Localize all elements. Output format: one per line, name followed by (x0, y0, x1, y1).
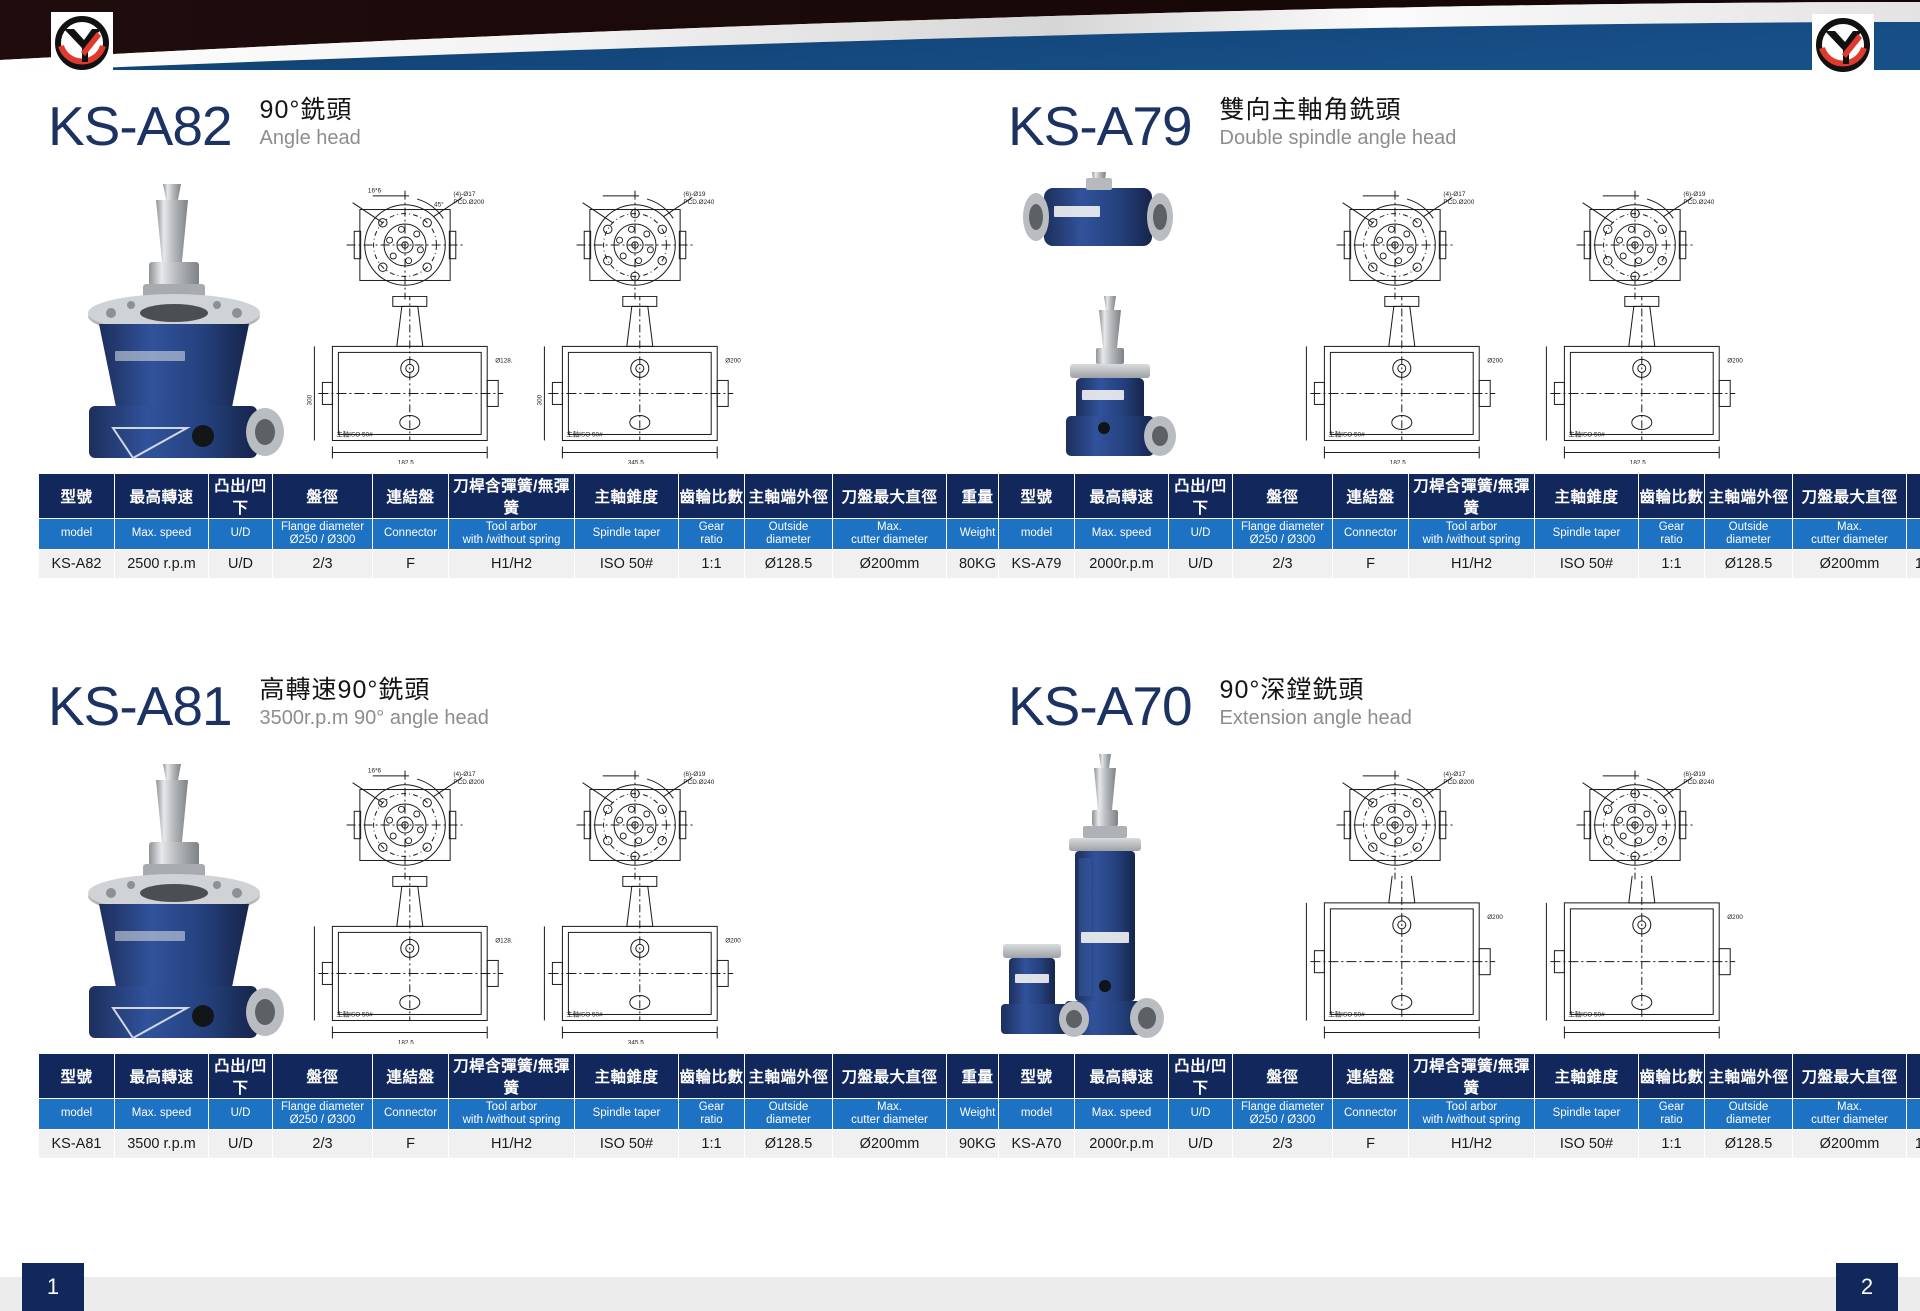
spec-cell-7: 1:1 (1639, 550, 1705, 579)
th-cn-1: 最高轉速 (1075, 1054, 1169, 1099)
th-cn-7: 齒輪比數 (679, 1054, 745, 1099)
spec-cell-1: 2000r.p.m (1075, 1130, 1169, 1159)
spec-cell-2: U/D (209, 550, 273, 579)
svg-text:PCD.Ø200: PCD.Ø200 (453, 779, 484, 786)
th-en-9-line-0: Max. (833, 521, 946, 534)
front-view-left-ks-a70: (4)-Ø17 PCD.Ø200 (1290, 754, 1500, 884)
th-en-1: Max. speed (115, 519, 209, 550)
table-row: KS-A702000r.p.mU/D2/3FH1/H2ISO 50#1:1Ø12… (999, 1130, 1920, 1159)
section-view-left-ks-a70: Ø2000~360°主軸ISO 50# (1290, 876, 1505, 1044)
svg-text:(6)-Ø19: (6)-Ø19 (683, 191, 705, 198)
th-en-7-line-1: ratio (1639, 534, 1704, 547)
th-en-3-line-0: Flange diameter (273, 521, 372, 534)
spec-cell-7: 1:1 (679, 1130, 745, 1159)
th-en-3-line-0: Flange diameter (1233, 1101, 1332, 1114)
page-number-right: 2 (1836, 1263, 1898, 1311)
th-en-8: Outsidediameter (745, 1099, 833, 1130)
product-title-chinese: 雙向主軸角銑頭 (1220, 96, 1457, 125)
spec-cell-3: 2/3 (273, 1130, 373, 1159)
front-view-right-ks-a82: (6)-Ø19 PCD.Ø240 (530, 174, 740, 304)
th-en-6: Spindle taper (1535, 1099, 1639, 1130)
th-en-0-line-0: model (999, 1107, 1074, 1120)
svg-text:182.5: 182.5 (398, 1039, 414, 1044)
th-en-2: U/D (209, 519, 273, 550)
svg-text:182.5: 182.5 (398, 459, 414, 464)
spec-table-ks-a70: 型號最高轉速凸出/凹下盤徑連結盤刀桿含彈簧/無彈簧主軸錐度齒輪比數主軸端外徑刀盤… (998, 1053, 1920, 1159)
th-en-7: Gearratio (679, 519, 745, 550)
svg-text:Ø128.5: Ø128.5 (495, 357, 513, 364)
table-header-row-en: modelMax. speedU/DFlange diameterØ250 / … (39, 519, 1009, 550)
spec-cell-4: F (1333, 550, 1409, 579)
svg-text:182.5: 182.5 (1390, 459, 1406, 464)
th-en-7: Gearratio (1639, 519, 1705, 550)
product-title-english: Double spindle angle head (1220, 126, 1457, 150)
th-en-9-line-1: cutter diameter (833, 534, 946, 547)
th-cn-2: 凸出/凹下 (209, 1054, 273, 1099)
th-en-1: Max. speed (115, 1099, 209, 1130)
page-footer (0, 1233, 1920, 1311)
svg-text:PCD.Ø240: PCD.Ø240 (1683, 199, 1714, 206)
th-en-4: Connector (373, 1099, 449, 1130)
svg-text:PCD.Ø240: PCD.Ø240 (1683, 779, 1714, 786)
section-view-left-ks-a79: 182.5Ø2000~360°主軸ISO 50# (1290, 296, 1505, 464)
spec-cell-6: ISO 50# (1535, 550, 1639, 579)
svg-text:主軸ISO 50#: 主軸ISO 50# (1328, 429, 1365, 438)
svg-text:主軸ISO 50#: 主軸ISO 50# (336, 429, 373, 438)
svg-text:(6)-Ø19: (6)-Ø19 (1683, 191, 1705, 198)
product-media-ks-a79: (4)-Ø17 PCD.Ø200 (6)-Ø19 PCD.Ø240 (990, 166, 1890, 471)
th-en-9: Max.cutter diameter (1793, 519, 1907, 550)
th-cn-0: 型號 (999, 1054, 1075, 1099)
th-cn-4: 連結盤 (1333, 474, 1409, 519)
th-en-3-line-1: Ø250 / Ø300 (1233, 534, 1332, 547)
product-media-ks-a82: 16*6 (4)-Ø17 PCD.Ø200 45° (6)-Ø19 P (30, 166, 930, 471)
th-en-5-line-0: Tool arbor (449, 1101, 574, 1114)
th-cn-0: 型號 (999, 474, 1075, 519)
svg-text:主軸ISO 50#: 主軸ISO 50# (566, 1009, 603, 1018)
th-en-8-line-1: diameter (1705, 534, 1792, 547)
th-en-8-line-0: Outside (745, 1101, 832, 1114)
section-view-right-ks-a79: 182.5Ø2000~360°主軸ISO 50# (1530, 296, 1745, 464)
th-cn-2: 凸出/凹下 (1169, 474, 1233, 519)
svg-text:PCD.Ø200: PCD.Ø200 (453, 199, 484, 206)
th-cn-3: 盤徑 (1233, 1054, 1333, 1099)
svg-text:Ø200: Ø200 (1487, 914, 1503, 921)
spec-cell-3: 2/3 (1233, 1130, 1333, 1159)
svg-text:PCD.Ø240: PCD.Ø240 (683, 199, 714, 206)
th-en-4: Connector (1333, 519, 1409, 550)
th-en-6: Spindle taper (1535, 519, 1639, 550)
product-photo-ks-a70 (995, 746, 1205, 1046)
svg-text:345.5: 345.5 (628, 459, 644, 464)
svg-text:16*6: 16*6 (368, 768, 382, 775)
product-photo-ks-a82 (55, 166, 285, 466)
svg-text:(4)-Ø17: (4)-Ø17 (1443, 191, 1465, 198)
product-model-name: KS-A79 (1008, 99, 1192, 154)
th-cn-2: 凸出/凹下 (209, 474, 273, 519)
spec-cell-9: Ø200mm (833, 550, 947, 579)
spec-cell-8: Ø128.5 (745, 550, 833, 579)
svg-text:Ø128.5: Ø128.5 (495, 937, 513, 944)
th-cn-0: 型號 (39, 474, 115, 519)
page-header-banner (0, 0, 1920, 78)
table-row: KS-A813500 r.p.mU/D2/3FH1/H2ISO 50#1:1Ø1… (39, 1130, 1009, 1159)
th-en-2-line-0: U/D (1169, 527, 1232, 540)
th-en-8: Outsidediameter (1705, 519, 1793, 550)
th-en-4-line-0: Connector (373, 1107, 448, 1120)
th-en-9-line-0: Max. (833, 1101, 946, 1114)
spec-cell-0: KS-A79 (999, 550, 1075, 579)
th-en-5: Tool arborwith /without spring (1409, 1099, 1535, 1130)
company-logo-left (51, 12, 113, 74)
th-en-6: Spindle taper (575, 1099, 679, 1130)
product-title-ks-a70: KS-A70 90°深鏜銑頭 Extension angle head (1008, 676, 1412, 734)
th-en-9: Max.cutter diameter (833, 1099, 947, 1130)
spec-cell-0: KS-A82 (39, 550, 115, 579)
product-model-name: KS-A81 (48, 679, 232, 734)
th-en-4-line-0: Connector (1333, 1107, 1408, 1120)
th-en-9: Max.cutter diameter (1793, 1099, 1907, 1130)
th-en-3-line-0: Flange diameter (1233, 521, 1332, 534)
section-view-left-ks-a82: 182.5300Ø128.50~360°主軸ISO 50# (298, 296, 513, 464)
svg-text:45°: 45° (434, 200, 444, 208)
front-view-right-ks-a79: (6)-Ø19 PCD.Ø240 (1530, 174, 1740, 304)
spec-cell-7: 1:1 (1639, 1130, 1705, 1159)
th-en-6-line-0: Spindle taper (1535, 1107, 1638, 1120)
th-en-7: Gearratio (679, 1099, 745, 1130)
th-cn-6: 主軸錐度 (1535, 1054, 1639, 1099)
th-cn-8: 主軸端外徑 (1705, 1054, 1793, 1099)
table-header-row-en: modelMax. speedU/DFlange diameterØ250 / … (999, 1099, 1920, 1130)
spec-cell-8: Ø128.5 (745, 1130, 833, 1159)
th-en-8: Outsidediameter (745, 519, 833, 550)
th-cn-9: 刀盤最大直徑 (1793, 1054, 1907, 1099)
th-en-3: Flange diameterØ250 / Ø300 (1233, 1099, 1333, 1130)
th-en-6-line-0: Spindle taper (575, 1107, 678, 1120)
th-cn-9: 刀盤最大直徑 (833, 474, 947, 519)
section-view-left-ks-a81: 182.5Ø128.50~360°主軸ISO 50# (298, 876, 513, 1044)
spec-cell-7: 1:1 (679, 550, 745, 579)
th-en-9-line-1: cutter diameter (1793, 1114, 1906, 1127)
th-cn-3: 盤徑 (273, 1054, 373, 1099)
page-number-left: 1 (22, 1263, 84, 1311)
th-en-5-line-0: Tool arbor (1409, 521, 1534, 534)
spec-cell-9: Ø200mm (1793, 550, 1907, 579)
th-en-5: Tool arborwith /without spring (449, 519, 575, 550)
th-cn-7: 齒輪比數 (1639, 1054, 1705, 1099)
th-cn-1: 最高轉速 (115, 1054, 209, 1099)
table-header-row-cn: 型號最高轉速凸出/凹下盤徑連結盤刀桿含彈簧/無彈簧主軸錐度齒輪比數主軸端外徑刀盤… (999, 474, 1920, 519)
spec-table-ks-a79: 型號最高轉速凸出/凹下盤徑連結盤刀桿含彈簧/無彈簧主軸錐度齒輪比數主軸端外徑刀盤… (998, 473, 1920, 579)
svg-text:(4)-Ø17: (4)-Ø17 (453, 191, 475, 198)
svg-text:PCD.Ø240: PCD.Ø240 (683, 779, 714, 786)
th-cn-8: 主軸端外徑 (1705, 474, 1793, 519)
th-en-3: Flange diameterØ250 / Ø300 (273, 1099, 373, 1130)
product-model-name: KS-A70 (1008, 679, 1192, 734)
th-cn-4: 連結盤 (1333, 1054, 1409, 1099)
section-view-right-ks-a70: Ø2000~360°主軸ISO 50# (1530, 876, 1745, 1044)
table-header-row-en: modelMax. speedU/DFlange diameterØ250 / … (39, 1099, 1009, 1130)
th-en-2-line-0: U/D (209, 527, 272, 540)
th-en-7: Gearratio (1639, 1099, 1705, 1130)
th-en-5-line-1: with /without spring (1409, 1114, 1534, 1127)
th-en-3-line-1: Ø250 / Ø300 (273, 534, 372, 547)
product-title-chinese: 90°銑頭 (260, 96, 361, 125)
th-cn-5: 刀桿含彈簧/無彈簧 (449, 1054, 575, 1099)
footer-gray-bar (0, 1277, 1920, 1311)
spec-cell-8: Ø128.5 (1705, 550, 1793, 579)
svg-text:Ø200: Ø200 (1727, 357, 1743, 364)
th-en-3-line-1: Ø250 / Ø300 (1233, 1114, 1332, 1127)
th-en-7-line-0: Gear (679, 521, 744, 534)
product-title-english: Extension angle head (1220, 706, 1412, 730)
front-view-left-ks-a81: 16*6 (4)-Ø17 PCD.Ø200 (300, 754, 510, 884)
th-en-9-line-1: cutter diameter (1793, 534, 1906, 547)
table-header-row-cn: 型號最高轉速凸出/凹下盤徑連結盤刀桿含彈簧/無彈簧主軸錐度齒輪比數主軸端外徑刀盤… (39, 1054, 1009, 1099)
th-en-2: U/D (1169, 1099, 1233, 1130)
th-en-6: Spindle taper (575, 519, 679, 550)
spec-cell-5: H1/H2 (1409, 550, 1535, 579)
svg-text:Ø200: Ø200 (725, 357, 741, 364)
th-en-2-line-0: U/D (209, 1107, 272, 1120)
spec-cell-8: Ø128.5 (1705, 1130, 1793, 1159)
spec-cell-6: ISO 50# (575, 1130, 679, 1159)
spec-cell-4: F (1333, 1130, 1409, 1159)
th-en-10: Weight (1907, 1099, 1920, 1130)
th-en-8-line-1: diameter (745, 534, 832, 547)
spec-cell-5: H1/H2 (449, 550, 575, 579)
spec-cell-0: KS-A70 (999, 1130, 1075, 1159)
th-cn-6: 主軸錐度 (575, 1054, 679, 1099)
svg-text:主軸ISO 50#: 主軸ISO 50# (566, 429, 603, 438)
th-cn-10: 重量 (1907, 1054, 1920, 1099)
th-en-7-line-1: ratio (679, 534, 744, 547)
th-en-3-line-0: Flange diameter (273, 1101, 372, 1114)
front-view-right-ks-a81: (6)-Ø19 PCD.Ø240 (530, 754, 740, 884)
company-y-logo-icon (1812, 14, 1874, 76)
th-cn-5: 刀桿含彈簧/無彈簧 (1409, 1054, 1535, 1099)
product-title-chinese: 90°深鏜銑頭 (1220, 676, 1412, 705)
spec-cell-1: 2500 r.p.m (115, 550, 209, 579)
th-cn-4: 連結盤 (373, 474, 449, 519)
th-en-7-line-0: Gear (1639, 1101, 1704, 1114)
product-block-ks-a79: KS-A79 雙向主軸角銑頭 Double spindle angle head (960, 78, 1920, 658)
product-title-english: Angle head (260, 126, 361, 150)
th-en-9: Max.cutter diameter (833, 519, 947, 550)
th-en-0: model (39, 1099, 115, 1130)
svg-text:(6)-Ø19: (6)-Ø19 (1683, 771, 1705, 778)
svg-text:300: 300 (306, 394, 313, 405)
spec-cell-10: 105KG (1907, 1130, 1920, 1159)
th-cn-8: 主軸端外徑 (745, 474, 833, 519)
th-en-8: Outsidediameter (1705, 1099, 1793, 1130)
th-cn-8: 主軸端外徑 (745, 1054, 833, 1099)
th-en-5-line-1: with /without spring (449, 534, 574, 547)
spec-cell-1: 3500 r.p.m (115, 1130, 209, 1159)
th-en-8-line-0: Outside (1705, 1101, 1792, 1114)
front-view-left-ks-a79: (4)-Ø17 PCD.Ø200 (1290, 174, 1500, 304)
spec-cell-6: ISO 50# (1535, 1130, 1639, 1159)
th-en-2: U/D (209, 1099, 273, 1130)
th-en-7-line-1: ratio (679, 1114, 744, 1127)
th-en-4: Connector (373, 519, 449, 550)
th-en-4-line-0: Connector (373, 527, 448, 540)
product-title-english: 3500r.p.m 90° angle head (260, 706, 489, 730)
th-en-9-line-1: cutter diameter (833, 1114, 946, 1127)
spec-table-ks-a82: 型號最高轉速凸出/凹下盤徑連結盤刀桿含彈簧/無彈簧主軸錐度齒輪比數主軸端外徑刀盤… (38, 473, 1009, 579)
th-cn-2: 凸出/凹下 (1169, 1054, 1233, 1099)
spec-cell-3: 2/3 (273, 550, 373, 579)
product-block-ks-a81: KS-A81 高轉速90°銑頭 3500r.p.m 90° angle head (0, 658, 960, 1238)
th-cn-0: 型號 (39, 1054, 115, 1099)
th-en-4: Connector (1333, 1099, 1409, 1130)
spec-cell-9: Ø200mm (1793, 1130, 1907, 1159)
th-en-8-line-0: Outside (1705, 521, 1792, 534)
spec-cell-2: U/D (209, 1130, 273, 1159)
th-en-1-line-0: Max. speed (115, 527, 208, 540)
th-en-1: Max. speed (1075, 519, 1169, 550)
product-title-ks-a79: KS-A79 雙向主軸角銑頭 Double spindle angle head (1008, 96, 1456, 154)
th-en-5-line-1: with /without spring (449, 1114, 574, 1127)
svg-text:主軸ISO 50#: 主軸ISO 50# (1568, 1009, 1605, 1018)
front-view-left-ks-a82: 16*6 (4)-Ø17 PCD.Ø200 45° (300, 174, 510, 304)
company-y-logo-icon (51, 12, 113, 74)
spec-cell-5: H1/H2 (449, 1130, 575, 1159)
header-swoosh-icon (0, 0, 1920, 78)
spec-cell-4: F (373, 550, 449, 579)
svg-text:300: 300 (536, 394, 543, 405)
th-cn-5: 刀桿含彈簧/無彈簧 (1409, 474, 1535, 519)
svg-text:主軸ISO 50#: 主軸ISO 50# (336, 1009, 373, 1018)
th-en-1-line-0: Max. speed (1075, 527, 1168, 540)
th-cn-9: 刀盤最大直徑 (1793, 474, 1907, 519)
svg-text:16*6: 16*6 (368, 188, 382, 195)
th-cn-5: 刀桿含彈簧/無彈簧 (449, 474, 575, 519)
product-photo-ks-a79 (1000, 166, 1210, 466)
th-cn-6: 主軸錐度 (1535, 474, 1639, 519)
table-header-row-en: modelMax. speedU/DFlange diameterØ250 / … (999, 519, 1920, 550)
th-en-8-line-1: diameter (1705, 1114, 1792, 1127)
spec-cell-4: F (373, 1130, 449, 1159)
product-title-ks-a81: KS-A81 高轉速90°銑頭 3500r.p.m 90° angle head (48, 676, 489, 734)
svg-text:345.5: 345.5 (628, 1039, 644, 1044)
table-header-row-cn: 型號最高轉速凸出/凹下盤徑連結盤刀桿含彈簧/無彈簧主軸錐度齒輪比數主軸端外徑刀盤… (999, 1054, 1920, 1099)
spec-cell-2: U/D (1169, 550, 1233, 579)
spec-cell-5: H1/H2 (1409, 1130, 1535, 1159)
th-en-5-line-0: Tool arbor (449, 521, 574, 534)
th-en-7-line-0: Gear (679, 1101, 744, 1114)
th-cn-7: 齒輪比數 (1639, 474, 1705, 519)
spec-cell-9: Ø200mm (833, 1130, 947, 1159)
th-en-10-line-0: Weight (1907, 527, 1920, 540)
th-en-9-line-0: Max. (1793, 521, 1906, 534)
spec-cell-10: 100KG (1907, 550, 1920, 579)
th-cn-7: 齒輪比數 (679, 474, 745, 519)
svg-text:Ø200: Ø200 (1727, 914, 1743, 921)
catalog-page-body: KS-A82 90°銑頭 Angle head (0, 78, 1920, 1233)
table-row: KS-A792000r.p.mU/D2/3FH1/H2ISO 50#1:1Ø12… (999, 550, 1920, 579)
spec-cell-0: KS-A81 (39, 1130, 115, 1159)
th-en-7-line-0: Gear (1639, 521, 1704, 534)
spec-cell-2: U/D (1169, 1130, 1233, 1159)
svg-text:(6)-Ø19: (6)-Ø19 (683, 771, 705, 778)
product-model-name: KS-A82 (48, 99, 232, 154)
th-en-0: model (39, 519, 115, 550)
spec-cell-3: 2/3 (1233, 550, 1333, 579)
th-cn-1: 最高轉速 (1075, 474, 1169, 519)
th-en-2: U/D (1169, 519, 1233, 550)
spec-cell-6: ISO 50# (575, 550, 679, 579)
company-logo-right (1812, 14, 1874, 76)
th-en-1-line-0: Max. speed (1075, 1107, 1168, 1120)
th-cn-4: 連結盤 (373, 1054, 449, 1099)
product-block-ks-a70: KS-A70 90°深鏜銑頭 Extension angle head (960, 658, 1920, 1238)
product-title-chinese: 高轉速90°銑頭 (260, 676, 489, 705)
product-title-ks-a82: KS-A82 90°銑頭 Angle head (48, 96, 361, 154)
th-en-3: Flange diameterØ250 / Ø300 (273, 519, 373, 550)
th-en-5-line-1: with /without spring (1409, 534, 1534, 547)
th-en-3-line-1: Ø250 / Ø300 (273, 1114, 372, 1127)
th-en-0: model (999, 1099, 1075, 1130)
svg-text:Ø200: Ø200 (1487, 357, 1503, 364)
th-en-5-line-0: Tool arbor (1409, 1101, 1534, 1114)
th-cn-6: 主軸錐度 (575, 474, 679, 519)
svg-text:182.5: 182.5 (1630, 459, 1646, 464)
spec-cell-1: 2000r.p.m (1075, 550, 1169, 579)
product-photo-ks-a81 (55, 746, 285, 1046)
front-view-right-ks-a70: (6)-Ø19 PCD.Ø240 (1530, 754, 1740, 884)
svg-text:主軸ISO 50#: 主軸ISO 50# (1568, 429, 1605, 438)
th-en-0-line-0: model (999, 527, 1074, 540)
product-block-ks-a82: KS-A82 90°銑頭 Angle head (0, 78, 960, 658)
svg-text:(4)-Ø17: (4)-Ø17 (453, 771, 475, 778)
th-cn-9: 刀盤最大直徑 (833, 1054, 947, 1099)
th-en-8-line-1: diameter (745, 1114, 832, 1127)
th-en-10: Weight (1907, 519, 1920, 550)
th-en-0: model (999, 519, 1075, 550)
svg-text:PCD.Ø200: PCD.Ø200 (1443, 199, 1474, 206)
th-en-7-line-1: ratio (1639, 1114, 1704, 1127)
th-en-0-line-0: model (39, 1107, 114, 1120)
th-en-5: Tool arborwith /without spring (449, 1099, 575, 1130)
th-en-8-line-0: Outside (745, 521, 832, 534)
table-header-row-cn: 型號最高轉速凸出/凹下盤徑連結盤刀桿含彈簧/無彈簧主軸錐度齒輪比數主軸端外徑刀盤… (39, 474, 1009, 519)
th-en-0-line-0: model (39, 527, 114, 540)
th-en-10-line-0: Weight (1907, 1107, 1920, 1120)
spec-table-ks-a81: 型號最高轉速凸出/凹下盤徑連結盤刀桿含彈簧/無彈簧主軸錐度齒輪比數主軸端外徑刀盤… (38, 1053, 1009, 1159)
section-view-right-ks-a82: 345.5300Ø2000~360°主軸ISO 50# (528, 296, 743, 464)
th-en-9-line-0: Max. (1793, 1101, 1906, 1114)
th-cn-3: 盤徑 (1233, 474, 1333, 519)
section-view-right-ks-a81: 345.5Ø2000~360°主軸ISO 50# (528, 876, 743, 1044)
th-en-6-line-0: Spindle taper (575, 527, 678, 540)
th-cn-10: 重量 (1907, 474, 1920, 519)
th-en-5: Tool arborwith /without spring (1409, 519, 1535, 550)
svg-text:Ø200: Ø200 (725, 937, 741, 944)
table-row: KS-A822500 r.p.mU/D2/3FH1/H2ISO 50#1:1Ø1… (39, 550, 1009, 579)
th-en-1-line-0: Max. speed (115, 1107, 208, 1120)
th-en-3: Flange diameterØ250 / Ø300 (1233, 519, 1333, 550)
svg-text:(4)-Ø17: (4)-Ø17 (1443, 771, 1465, 778)
svg-text:PCD.Ø200: PCD.Ø200 (1443, 779, 1474, 786)
th-en-4-line-0: Connector (1333, 527, 1408, 540)
product-media-ks-a70: (4)-Ø17 PCD.Ø200 (6)-Ø19 PCD.Ø240 (990, 746, 1890, 1051)
svg-text:主軸ISO 50#: 主軸ISO 50# (1328, 1009, 1365, 1018)
th-cn-3: 盤徑 (273, 474, 373, 519)
th-cn-1: 最高轉速 (115, 474, 209, 519)
th-en-1: Max. speed (1075, 1099, 1169, 1130)
th-en-6-line-0: Spindle taper (1535, 527, 1638, 540)
